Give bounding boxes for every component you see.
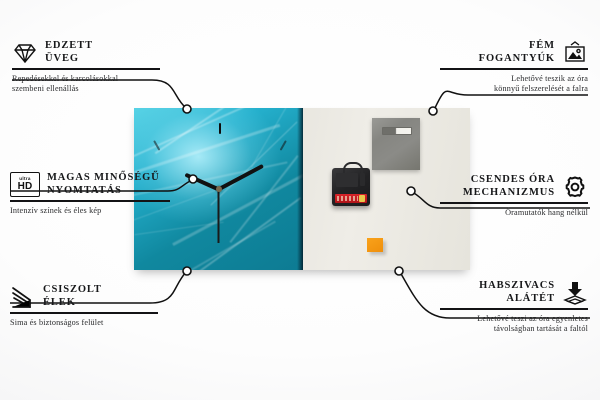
feature-silent-mechanism: CSENDES ÓRA MECHANIZMUS Óramutatók hang … xyxy=(440,174,588,218)
diagonal-lines-icon xyxy=(10,285,36,309)
feature-title-line2: MECHANIZMUS xyxy=(463,187,555,200)
picture-hanger-icon xyxy=(562,41,588,65)
mechanism-panel xyxy=(336,173,358,187)
divider xyxy=(440,202,588,204)
feature-desc-line1: Sima és biztonságos felület xyxy=(10,318,158,328)
divider xyxy=(10,200,170,202)
infographic-canvas: EDZETT ÜVEG Repedésekkel és karcolásokka… xyxy=(0,0,600,400)
divider xyxy=(10,312,158,314)
feature-desc-line2: szembeni ellenállás xyxy=(12,84,160,94)
hanger-keyhole-slot xyxy=(382,127,412,135)
feature-polished-edges: CSISZOLT ÉLEK Sima és biztonságos felüle… xyxy=(10,284,158,328)
mechanism-shaft xyxy=(360,173,365,186)
feature-title-line1: CSENDES ÓRA xyxy=(463,174,555,187)
press-pad-icon xyxy=(562,281,588,305)
feature-desc-line1: Óramutatók hang nélkül xyxy=(440,208,588,218)
feature-high-quality-print: ultra HD MAGAS MINŐSÉGŰ NYOMTATÁS Intenz… xyxy=(10,172,170,216)
divider xyxy=(12,68,160,70)
battery xyxy=(335,194,367,203)
clock-second-hand xyxy=(218,189,220,243)
ultra-hd-icon: ultra HD xyxy=(10,172,40,197)
gear-icon xyxy=(562,175,588,199)
feature-foam-pad: HABSZIVACS ALÁTÉT Lehetővé teszi az óra … xyxy=(440,280,588,334)
feature-title-line2: ALÁTÉT xyxy=(479,293,555,306)
feature-title-line2: ÉLEK xyxy=(43,297,102,310)
clock-mechanism xyxy=(332,168,370,206)
feature-title-line1: FÉM xyxy=(479,40,555,53)
foam-pad-sample xyxy=(367,238,383,252)
product-photo xyxy=(134,108,470,270)
clock-minute-hand xyxy=(218,164,264,191)
feature-desc-line1: Lehetővé teszik az óra xyxy=(440,74,588,84)
feature-title-line1: MAGAS MINŐSÉGŰ xyxy=(47,172,160,185)
feature-title-line1: HABSZIVACS xyxy=(479,280,555,293)
feature-title-line2: ÜVEG xyxy=(45,53,93,66)
clock-center-cap xyxy=(216,186,222,192)
divider xyxy=(440,68,588,70)
metal-hanger-plate xyxy=(372,118,420,170)
feature-desc-line2: könnyű felszerelését a falra xyxy=(440,84,588,94)
clock-hour-hand xyxy=(185,172,220,191)
feature-desc-line2: távolságban tartását a faltól xyxy=(440,324,588,334)
feature-tempered-glass: EDZETT ÜVEG Repedésekkel és karcolásokka… xyxy=(12,40,160,94)
diamond-icon xyxy=(12,41,38,65)
feature-title-line1: EDZETT xyxy=(45,40,93,53)
feature-desc-line1: Repedésekkel és karcolásokkal xyxy=(12,74,160,84)
feature-desc-line1: Intenzív színek és éles kép xyxy=(10,206,170,216)
feature-metal-handles: FÉM FOGANTYÚK Lehetővé teszik az óra kön… xyxy=(440,40,588,94)
feature-desc-line1: Lehetővé teszi az óra egyenletes xyxy=(440,314,588,324)
feature-title-line2: NYOMTATÁS xyxy=(47,185,160,198)
divider xyxy=(440,308,588,310)
feature-title-line1: CSISZOLT xyxy=(43,284,102,297)
feature-title-line2: FOGANTYÚK xyxy=(479,53,555,66)
ultra-hd-big-label: HD xyxy=(18,182,33,192)
